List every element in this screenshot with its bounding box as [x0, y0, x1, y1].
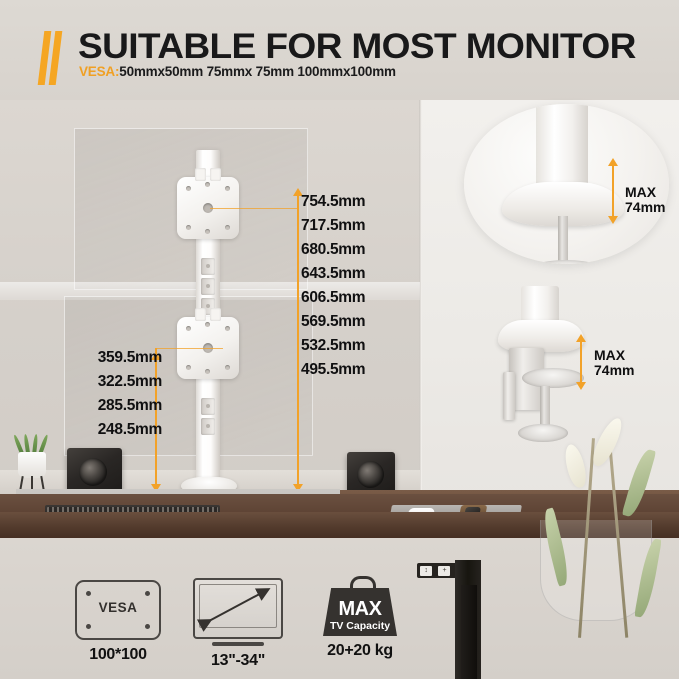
vesa-sizes: 50mmx50mm 75mmx 75mm 100mmx100mm	[119, 64, 396, 79]
monitor-size-icon	[193, 578, 283, 639]
weight-capacity-icon: MAX TV Capacity	[323, 576, 397, 636]
inset1-arrowhead-up	[608, 158, 618, 166]
lily-bud	[562, 443, 589, 490]
header-banner: SUITABLE FOR MOST MONITOR VESA:50mmx50mm…	[0, 0, 679, 100]
spec-caption: 13"-34"	[176, 652, 300, 670]
plant-pot	[18, 452, 46, 478]
inset2-arrow	[580, 342, 582, 382]
leader-line-lower	[155, 348, 223, 349]
clamp-jaw	[503, 372, 515, 420]
diagonal-arrow-icon	[195, 580, 281, 637]
desk-leg-lower	[461, 585, 477, 679]
inset2-max-label: MAX 74mm	[594, 348, 634, 378]
dimension-value: 359.5mm	[52, 346, 162, 370]
spec-caption: 20+20 kg	[298, 642, 422, 660]
vesa-label: VESA:	[79, 64, 119, 79]
dimension-value: 285.5mm	[52, 394, 162, 418]
spec-screen-size: 13"-34"	[176, 578, 300, 670]
lily-plant	[545, 418, 665, 638]
dimension-value: 495.5mm	[301, 358, 397, 382]
leader-line-upper	[210, 208, 298, 209]
dimension-labels-lower: 359.5mm 322.5mm 285.5mm 248.5mm	[52, 346, 162, 442]
control-preset-1-button[interactable]: +	[438, 566, 450, 576]
dimension-value: 532.5mm	[301, 334, 397, 358]
inset1-max-label: MAX 74mm	[625, 185, 665, 215]
max-value: 74mm	[625, 199, 665, 215]
accent-bars-icon	[41, 31, 63, 85]
inset1-arrowhead-down	[608, 216, 618, 224]
pole-slot	[201, 418, 215, 435]
dimension-value: 643.5mm	[301, 262, 397, 286]
pole-slot	[201, 258, 215, 275]
inset1-arrow	[612, 166, 614, 216]
spec-weight-capacity: MAX TV Capacity 20+20 kg	[298, 576, 422, 660]
clamp-plate	[522, 368, 584, 388]
lily-leaf	[622, 447, 657, 519]
max-value: 74mm	[594, 362, 634, 378]
dimension-value: 717.5mm	[301, 214, 397, 238]
dimension-arrow-upper	[297, 196, 299, 491]
dimension-value: 754.5mm	[301, 190, 397, 214]
max-text: MAX	[594, 347, 625, 363]
spec-vesa: VESA 100*100	[58, 580, 178, 664]
tv-capacity-text: TV Capacity	[323, 620, 397, 632]
max-text: MAX	[625, 184, 656, 200]
product-infographic: SUITABLE FOR MOST MONITOR VESA:50mmx50mm…	[0, 0, 679, 679]
lily-leaf	[540, 507, 572, 586]
control-up-down-button[interactable]: ↕	[420, 566, 432, 576]
vesa-badge-text: VESA	[77, 600, 159, 615]
wall-seam	[419, 100, 422, 500]
dimension-value: 248.5mm	[52, 418, 162, 442]
pole-slot	[201, 278, 215, 295]
inset2-arrowhead-up	[576, 334, 586, 342]
dimension-value: 680.5mm	[301, 238, 397, 262]
lily-leaf	[634, 537, 662, 618]
spec-caption: 100*100	[58, 646, 178, 664]
vesa-subtitle: VESA:50mmx50mm 75mmx 75mm 100mmx100mm	[79, 64, 396, 79]
pole-slot	[201, 398, 215, 415]
max-badge-text: MAX	[323, 598, 397, 621]
vesa-pattern-icon: VESA	[75, 580, 161, 640]
page-title: SUITABLE FOR MOST MONITOR	[78, 27, 636, 67]
dimension-value: 569.5mm	[301, 310, 397, 334]
dimension-labels-upper: 754.5mm 717.5mm 680.5mm 643.5mm 606.5mm …	[301, 190, 397, 382]
monitor-stand-bar	[212, 642, 264, 646]
dimension-value: 606.5mm	[301, 286, 397, 310]
inset2-arrowhead-down	[576, 382, 586, 390]
dimension-value: 322.5mm	[52, 370, 162, 394]
